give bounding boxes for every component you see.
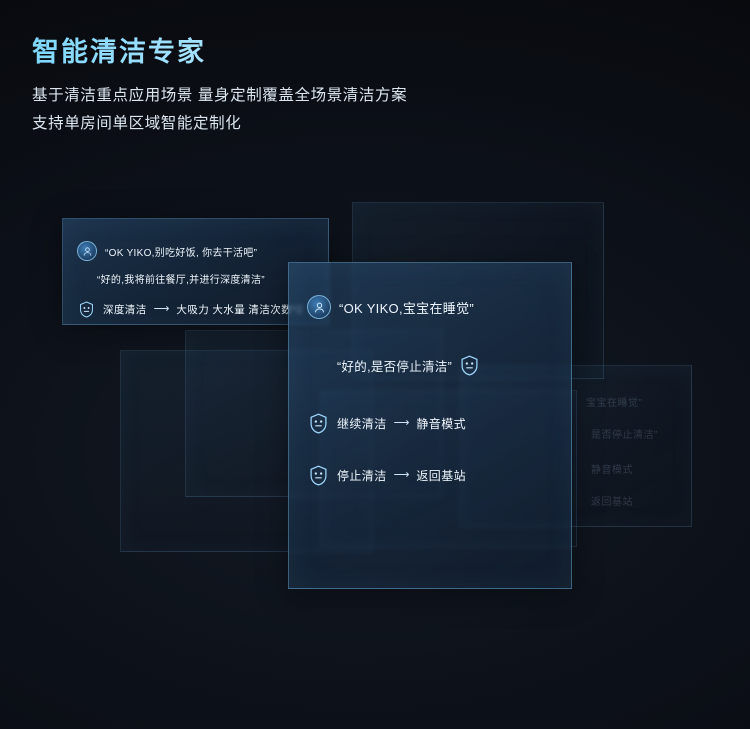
arrow-icon: ⟶ <box>394 470 410 481</box>
front-question-text: “OK YIKO,宝宝在睡觉” <box>339 298 474 317</box>
back-answer-text: “好的,我将前往餐厅,并进行深度清洁” <box>97 271 265 286</box>
front-option-row-1[interactable]: 继续清洁 ⟶ 静音模式 <box>307 411 466 435</box>
ghost-text-1: 宝宝在睡觉” <box>586 394 642 409</box>
back-option-value: 大吸力 大水量 清洁次数*2 <box>176 302 302 317</box>
front-answer-text: “好的,是否停止清洁” <box>337 356 452 375</box>
ghost-text-3: 静音模式 <box>591 461 633 476</box>
subtitle-line-2: 支持单房间单区域智能定制化 <box>32 110 672 137</box>
page-title: 智能清洁专家 <box>32 36 672 68</box>
header: 智能清洁专家 基于清洁重点应用场景 量身定制覆盖全场景清洁方案 支持单房间单区域… <box>32 36 672 137</box>
front-question-row: “OK YIKO,宝宝在睡觉” <box>307 295 474 319</box>
arrow-icon: ⟶ <box>394 418 410 429</box>
panel-stage: 宝宝在睡觉” 是否停止清洁” 静音模式 返回基站 “OK YIKO,别吃好饭, … <box>0 150 750 620</box>
ghost-text-2: 是否停止清洁” <box>591 426 658 441</box>
front-option-2-value: 返回基站 <box>416 467 466 484</box>
ghost-text-4: 返回基站 <box>591 493 633 508</box>
back-question-row: “OK YIKO,别吃好饭, 你去干活吧” <box>77 241 257 261</box>
back-option-label: 深度清洁 <box>103 302 147 317</box>
user-icon <box>307 295 331 319</box>
back-option-row[interactable]: 深度清洁 ⟶ 大吸力 大水量 清洁次数*2 <box>77 299 303 319</box>
robot-badge-icon <box>458 353 480 377</box>
dialogue-panel-front[interactable]: “OK YIKO,宝宝在睡觉” “好的,是否停止清洁” <box>288 262 572 589</box>
page-root: 智能清洁专家 基于清洁重点应用场景 量身定制覆盖全场景清洁方案 支持单房间单区域… <box>0 0 750 729</box>
back-answer-row: “好的,我将前往餐厅,并进行深度清洁” <box>97 271 265 286</box>
front-option-1-value: 静音模式 <box>416 415 466 432</box>
user-icon <box>77 241 97 261</box>
robot-badge-icon <box>307 411 329 435</box>
robot-badge-icon <box>307 463 329 487</box>
subtitle-line-1: 基于清洁重点应用场景 量身定制覆盖全场景清洁方案 <box>32 82 672 109</box>
front-option-1-label: 继续清洁 <box>337 415 387 432</box>
front-option-2-label: 停止清洁 <box>337 467 387 484</box>
robot-badge-icon <box>77 299 95 319</box>
arrow-icon: ⟶ <box>154 304 170 315</box>
back-question-text: “OK YIKO,别吃好饭, 你去干活吧” <box>105 244 257 259</box>
front-answer-row: “好的,是否停止清洁” <box>337 353 480 377</box>
front-option-row-2[interactable]: 停止清洁 ⟶ 返回基站 <box>307 463 466 487</box>
